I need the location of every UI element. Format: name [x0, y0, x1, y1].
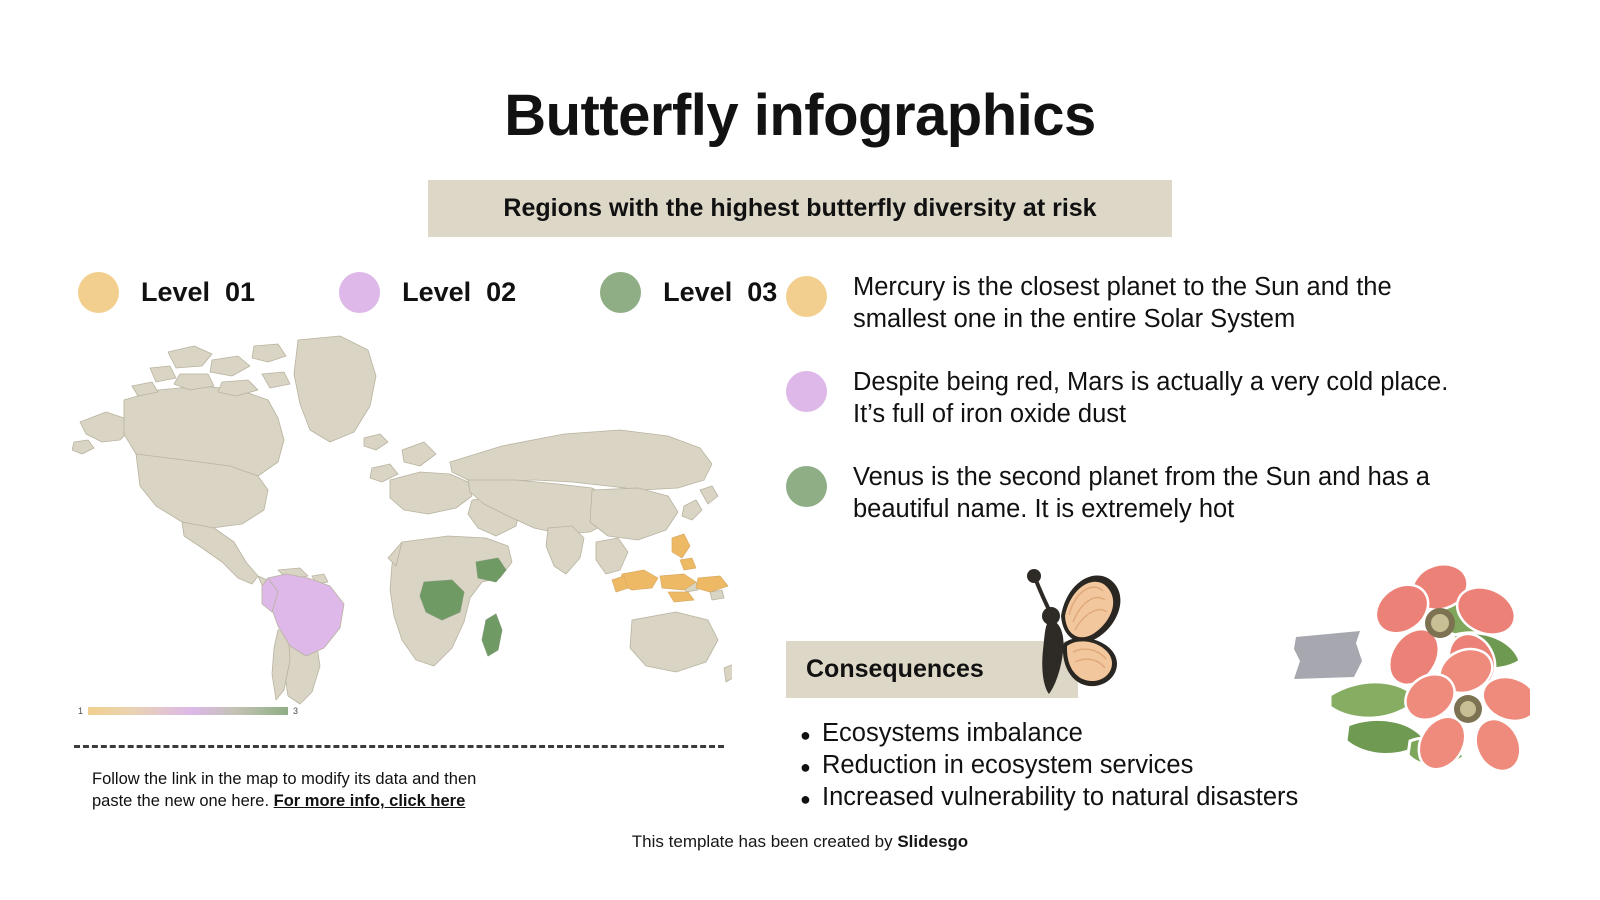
list-item-label: Ecosystems imbalance	[822, 718, 1083, 750]
legend-item-level-03[interactable]: Level 03	[600, 272, 777, 313]
fact-item: Mercury is the closest planet to the Sun…	[786, 272, 1486, 335]
footer-prefix: This template has been created by	[632, 832, 898, 851]
legend-dot-icon-level-03	[600, 272, 641, 313]
legend-item-level-01[interactable]: Level 01	[78, 272, 255, 313]
map-caption: Follow the link in the map to modify its…	[92, 768, 592, 813]
legend-dot-icon-level-01	[78, 272, 119, 313]
legend-dot-icon-level-02	[339, 272, 380, 313]
world-map[interactable]	[72, 330, 732, 705]
list-item-label: Reduction in ecosystem services	[822, 750, 1193, 782]
scale-max-label: 3	[293, 706, 298, 716]
legend: Level 01 Level 02 Level 03	[78, 272, 861, 313]
fact-text: Despite being red, Mars is actually a ve…	[853, 367, 1483, 430]
scale-min-label: 1	[78, 706, 83, 716]
flowers-illustration	[1290, 565, 1530, 775]
footer-brand: Slidesgo	[897, 832, 968, 851]
page-title: Butterfly infographics	[0, 82, 1600, 149]
caption-line-2: paste the new one here.	[92, 792, 274, 810]
scale-gradient-bar	[88, 707, 288, 715]
legend-item-level-02[interactable]: Level 02	[339, 272, 516, 313]
legend-label-level-02: Level 02	[402, 277, 516, 308]
dashed-divider	[74, 745, 724, 748]
more-info-link[interactable]: For more info, click here	[274, 792, 466, 810]
bullet-icon: ●	[800, 724, 822, 747]
list-item: ● Reduction in ecosystem services	[800, 750, 1298, 782]
fact-item: Despite being red, Mars is actually a ve…	[786, 367, 1486, 430]
butterfly-illustration	[1005, 560, 1135, 700]
list-item: ● Increased vulnerability to natural dis…	[800, 782, 1298, 814]
fact-dot-icon-level-01	[786, 276, 827, 317]
fact-text: Mercury is the closest planet to the Sun…	[853, 272, 1483, 335]
fact-dot-icon-level-03	[786, 466, 827, 507]
caption-line-1: Follow the link in the map to modify its…	[92, 770, 476, 788]
fact-dot-icon-level-02	[786, 371, 827, 412]
bullet-icon: ●	[800, 756, 822, 779]
fact-text: Venus is the second planet from the Sun …	[853, 462, 1483, 525]
consequences-list: ● Ecosystems imbalance ● Reduction in ec…	[800, 718, 1298, 814]
map-color-scale: 1 3	[78, 703, 298, 719]
list-item: ● Ecosystems imbalance	[800, 718, 1298, 750]
subtitle-text: Regions with the highest butterfly diver…	[503, 194, 1096, 223]
list-item-label: Increased vulnerability to natural disas…	[822, 782, 1298, 814]
footer: This template has been created by Slides…	[0, 832, 1600, 852]
consequences-title: Consequences	[806, 655, 984, 684]
subtitle-band: Regions with the highest butterfly diver…	[428, 180, 1172, 237]
legend-label-level-01: Level 01	[141, 277, 255, 308]
legend-label-level-03: Level 03	[663, 277, 777, 308]
fact-item: Venus is the second planet from the Sun …	[786, 462, 1486, 525]
bullet-icon: ●	[800, 788, 822, 811]
facts-list: Mercury is the closest planet to the Sun…	[786, 272, 1486, 558]
